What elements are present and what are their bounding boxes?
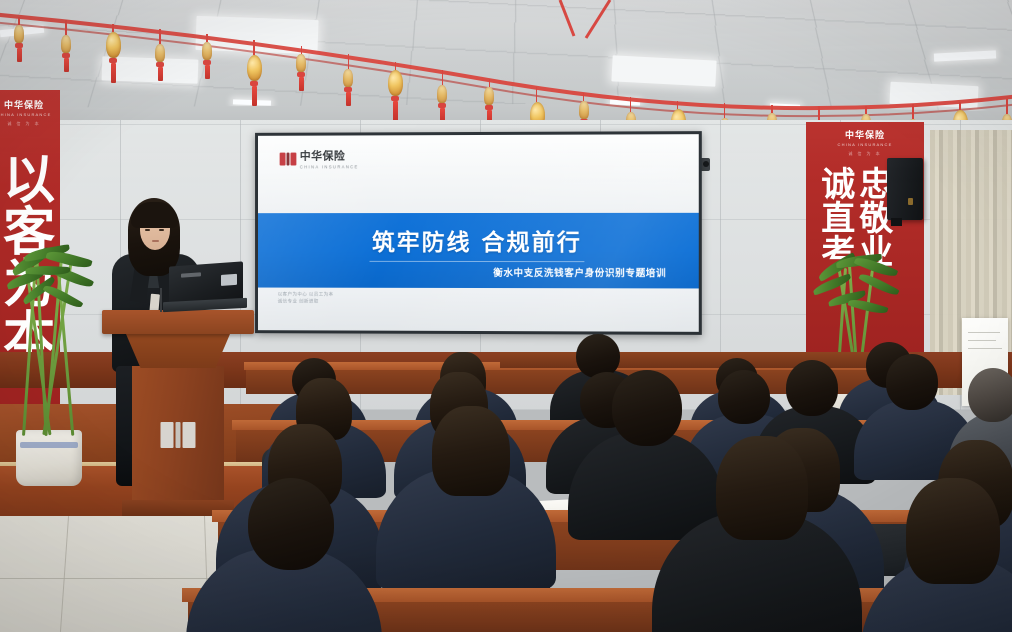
attendee-head [716,436,808,540]
podium [108,310,248,520]
slide-logo: 中华保险 CHINA INSURANCE [280,147,359,169]
slide-title-rule [370,261,585,262]
banner-left-logo: 中华保险 CHINA INSURANCE 诚 信 为 本 [0,98,51,127]
attendee-head [886,354,938,410]
projection-screen[interactable]: 中华保险 CHINA INSURANCE 筑牢防线 合规前行 衡水中支反洗钱客户… [255,131,702,335]
wall-speaker-icon [887,158,923,220]
presenter-mouth [152,240,159,242]
banner-right-logo: 中华保险 CHINA INSURANCE 诚 信 为 本 [838,128,893,157]
slide-title-band: 筑牢防线 合规前行 衡水中支反洗钱客户身份识别专题培训 [258,213,699,288]
plant-stems [6,248,98,486]
cic-podium-logo-icon [161,422,196,448]
garland-ornament-icon [200,34,214,79]
podium-neck [126,334,230,368]
potted-plant-left [6,196,98,486]
presenter-fringe [131,202,178,228]
banner-right-logo-sub: 诚 信 为 本 [838,151,893,157]
attendee-head [248,478,334,570]
garland-ornament-icon [153,29,167,81]
banner-right-logo-en: CHINA INSURANCE [838,142,893,147]
attendee-head [432,406,510,496]
laptop[interactable] [163,264,243,312]
podium-top [102,310,254,334]
slide-subtitle: 衡水中支反洗钱客户身份识别专题培训 [493,265,666,279]
garland-ornament-icon [294,46,308,91]
attendee-head [718,370,770,424]
slide-title: 筑牢防线 合规前行 [372,223,582,257]
attendee-head [786,360,838,416]
banner-right-logo-cn: 中华保险 [838,128,893,141]
garland-ornament-icon [341,54,355,106]
garland-ornament-icon [388,62,402,121]
attendee-head [906,478,1000,584]
garland-ornament-icon [59,20,73,72]
attendee-head [968,368,1012,422]
slide-footer-area: 以客户为中心 以员工为本 诚信专业 创新进取 [258,287,699,331]
desk-row1b [500,352,890,368]
microphone-icon [160,288,162,312]
slide-header: 中华保险 CHINA INSURANCE [258,134,699,213]
slide-footer: 以客户为中心 以员工为本 诚信专业 创新进取 [278,291,334,304]
garland-ornament-icon [435,70,449,122]
garland-ornament-icon [106,24,120,83]
slide-logo-cn: 中华保险 [300,147,359,163]
banner-left-logo-cn: 中华保险 [0,98,51,111]
presentation-slide: 中华保险 CHINA INSURANCE 筑牢防线 合规前行 衡水中支反洗钱客户… [258,134,699,332]
slide-logo-en: CHINA INSURANCE [300,164,359,169]
conference-room-photo: 中华保险 CHINA INSURANCE 诚 信 为 本 以客为本 中华保险 C… [0,0,1012,632]
slide-footer-line2: 诚信专业 创新进取 [278,298,334,305]
attendee-head [576,334,620,378]
banner-left-logo-en: CHINA INSURANCE [0,112,51,117]
banner-left-logo-sub: 诚 信 为 本 [0,121,51,127]
garland-ornament-icon [247,40,261,106]
cic-logo-icon [280,152,296,165]
garland-ornament-icon [12,17,26,62]
attendee-head [612,370,682,446]
garland-ornament-icon [482,79,496,124]
slide-footer-line1: 以客户为中心 以员工为本 [278,291,334,298]
